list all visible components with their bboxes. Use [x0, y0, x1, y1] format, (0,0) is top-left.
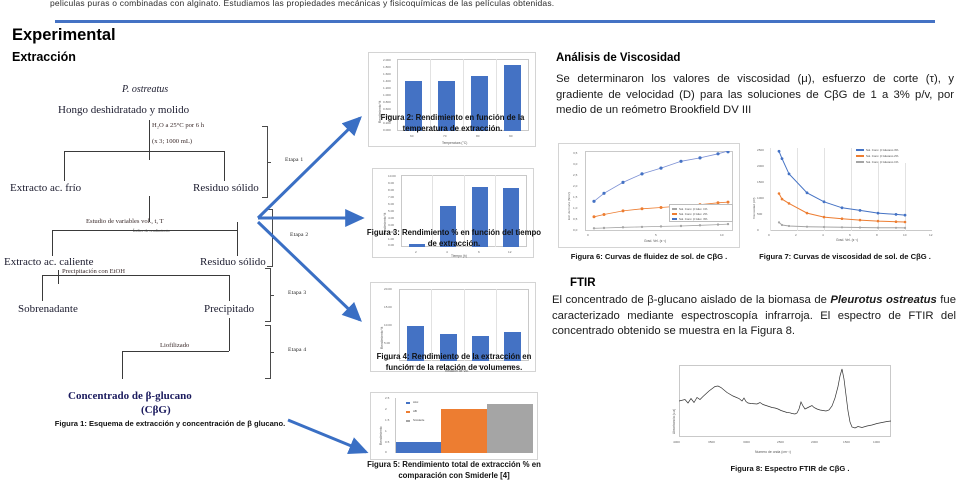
gridline [496, 289, 497, 361]
y-tick: 1.5 [385, 418, 389, 422]
y-tick: 1.200 [383, 86, 391, 90]
flow-node-extracto-frio: Extracto ac. frío [10, 182, 81, 194]
figura-8-caption: Figura 8: Espectro FTIR de CβG . [670, 464, 910, 474]
flow-line [64, 151, 65, 181]
y-tick: 2.5 [385, 396, 389, 400]
flow-node-residuo-1: Residuo sólido [193, 182, 259, 194]
y-tick: 2.000 [383, 58, 391, 62]
x-tick: 10 [720, 233, 723, 237]
y-tick: 1,0 [573, 206, 577, 210]
figura-6-chartbox: Esf. de Corte (N/m²) 3,5 3,0 2,5 2,0 1,5… [558, 143, 740, 248]
x-tick: 8 [876, 233, 878, 237]
header-divider-rule [55, 20, 935, 23]
flow-line [42, 275, 43, 301]
x-tick: 60 [410, 134, 413, 138]
y-tick: 9.00 [388, 181, 394, 185]
y-tick: 2,5 [573, 173, 577, 177]
bar-aac [396, 442, 441, 453]
legend-label-ab: AB [413, 409, 417, 413]
flow-cond4: Liofilizado [160, 342, 189, 349]
y-tick: 10.00 [384, 323, 392, 327]
x-tick: 2 [795, 233, 797, 237]
y-tick: 7.00 [388, 195, 394, 199]
flow-line [122, 351, 123, 379]
legend-label-aac: AAc [413, 400, 418, 404]
legend-swatch-smiderle [406, 420, 410, 422]
flow-cond2: Estudio de variables vol., t, T [86, 218, 164, 225]
stage-label-4: Etapa 4 [288, 347, 306, 353]
stage-label-3: Etapa 3 [288, 290, 306, 296]
legend-label-3pct: Sol. Conc. β Gluc. 3% [679, 217, 707, 221]
x-tick: 10 [903, 233, 906, 237]
flow-cond3: Precipitación con EtOH [62, 268, 125, 275]
y-tick: 0,5 [573, 217, 577, 221]
top-cut-paragraph: peliculas puras o combinadas con alginat… [50, 0, 910, 10]
figura-8-spectrum-svg [679, 365, 891, 437]
figura-5-ylabel: Rendimiento [379, 426, 383, 445]
flow-line [52, 230, 53, 256]
legend-swatch-3pct [672, 218, 677, 220]
legend-label-1pct: Sol. Conc. β Glucano 1% [866, 160, 898, 164]
figura-6-card: Esf. de Corte (N/m²) 3,5 3,0 2,5 2,0 1,5… [558, 143, 740, 248]
y-tick: 5.00 [384, 341, 390, 345]
x-tick: 0 [587, 233, 589, 237]
extraccion-heading: Extracción [12, 50, 76, 64]
flow-line [237, 222, 238, 256]
x-tick: 1500 [843, 440, 850, 444]
y-tick: 1500 [757, 180, 764, 184]
flow-line [229, 318, 230, 351]
flow-line [42, 275, 229, 276]
figura-7-ylabel: Viscosidad (cP) [752, 198, 756, 219]
flow-node-extracto-caliente: Extracto ac. caliente [4, 256, 93, 268]
figura-7-caption: Figura 7: Curvas de viscosidad de sol. d… [745, 252, 945, 262]
extraction-flowchart: P. ostreatus Hongo deshidratado y molido… [0, 78, 345, 458]
x-tick: 6 [849, 233, 851, 237]
ftir-heading: FTIR [570, 277, 596, 289]
flow-line [122, 351, 229, 352]
figura-8-xlabel: Numero de onda (cm⁻¹) [755, 450, 791, 454]
figura-5-chartbox: Rendimiento 2.5 2 1.5 1 0.5 0 AAc AB Smi… [370, 392, 538, 460]
figura-5-caption: Figura 5: Rendimiento total de extracció… [362, 460, 546, 481]
x-tick: 2 [415, 250, 417, 254]
x-tick: 12 [508, 250, 511, 254]
x-tick: 6 [478, 250, 480, 254]
flow-node-final-line1: Concentrado de β-glucano [68, 390, 192, 402]
y-tick: 4.00 [388, 216, 394, 220]
legend-swatch-ab [406, 411, 410, 413]
y-tick: 3.00 [388, 223, 394, 227]
figura-6-legend: Sol. Conc. β Gluc. 1% Sol. Conc. β Gluc.… [669, 204, 733, 222]
y-tick: 500 [757, 212, 762, 216]
figura-6-ylabel: Esf. de Corte (N/m²) [567, 192, 571, 220]
y-tick: 1.800 [383, 65, 391, 69]
figura-5-card: Rendimiento 2.5 2 1.5 1 0.5 0 AAc AB Smi… [370, 392, 538, 460]
viscosidad-paragraph: Se determinaron los valores de viscosida… [556, 72, 954, 119]
figura-8-ylabel: Absorbancia (u.a) [672, 409, 676, 434]
y-tick: 2000 [757, 164, 764, 168]
figura-2-caption: Figura 2: Rendimiento en función de la t… [365, 113, 540, 134]
flow-node-start: Hongo deshidratado y molido [58, 104, 189, 116]
y-tick: 0.5 [385, 440, 389, 444]
ftir-text-part1: El concentrado de β-glucano aislado de l… [552, 294, 830, 306]
y-tick: 10.00 [388, 174, 396, 178]
flow-node-residuo-2: Residuo sólido [200, 256, 266, 268]
stage-label-1: Etapa 1 [285, 157, 303, 163]
figura-3-xlabel: Tiempo (h) [451, 254, 467, 258]
y-tick: 0 [385, 450, 387, 454]
legend-swatch-aac [406, 402, 410, 404]
figura-7-card: Viscosidad (cP) 2500 2000 1500 1000 500 … [748, 143, 944, 248]
legend-label-3pct: Sol. Conc. β Glucano 3% [866, 148, 898, 152]
stage-bracket-2 [267, 209, 273, 267]
figura-4-ylabel: Rendimiento % [380, 327, 384, 349]
y-tick: 0.800 [383, 100, 391, 104]
y-tick: 1.000 [383, 93, 391, 97]
legend-swatch-1pct [672, 208, 677, 210]
figura-1-caption: Figura 1: Esquema de extracción y concen… [20, 419, 320, 429]
figura-2-xlabel: Temperatura (°C) [442, 141, 467, 145]
y-tick: 0.600 [383, 107, 391, 111]
legend-swatch-1pct [856, 161, 864, 163]
y-tick: 6.00 [388, 202, 394, 206]
y-tick: 1.400 [383, 79, 391, 83]
stage-bracket-3 [265, 268, 271, 322]
figura-7-xlabel: Grad. Vel. (s⁻¹) [836, 238, 858, 242]
flow-line [149, 120, 150, 160]
x-tick: 80 [476, 134, 479, 138]
legend-swatch-2pct [856, 155, 864, 157]
gridline [464, 289, 465, 361]
x-tick: 3000 [743, 440, 750, 444]
y-tick: 0,0 [573, 228, 577, 232]
y-tick: 5.00 [388, 209, 394, 213]
x-tick: 3500 [708, 440, 715, 444]
flow-node-final-line2: (CβG) [141, 404, 171, 416]
bar-smiderle [487, 404, 533, 454]
flow-cond1-line2: (x 3; 1000 mL) [152, 138, 192, 145]
x-tick: 4 [446, 250, 448, 254]
figura-8-card: Absorbancia (u.a) 4000 3500 3000 2500 20… [665, 362, 910, 462]
stage-bracket-4 [265, 325, 271, 379]
figura-7-legend: Sol. Conc. β Glucano 3% Sol. Conc. β Glu… [856, 146, 942, 163]
poster-page: peliculas puras o combinadas con alginat… [0, 0, 960, 480]
flow-node-precipitado: Precipitado [204, 303, 254, 315]
x-tick: 4000 [673, 440, 680, 444]
figura-4-caption: Figura 4: Rendimiento de la extracción e… [363, 352, 545, 373]
flow-line [58, 270, 59, 284]
flow-line [229, 275, 230, 301]
y-tick: 20.00 [384, 287, 392, 291]
legend-label-2pct: Sol. Conc. β Gluc. 2% [679, 212, 707, 216]
legend-label-smiderle: Smiderle [413, 418, 424, 422]
viscosidad-heading: Análisis de Viscosidad [556, 52, 680, 64]
x-tick: 12 [929, 233, 932, 237]
y-tick: 2500 [757, 148, 764, 152]
experimental-heading: Experimental [12, 26, 116, 45]
legend-label-2pct: Sol. Conc. β Glucano 2% [866, 154, 898, 158]
y-tick: 1 [385, 429, 387, 433]
y-tick: 0 [757, 228, 759, 232]
flow-node-sobrenadante: Sobrenadante [18, 303, 78, 315]
ftir-species-name: Pleurotus ostreatus [830, 294, 936, 306]
y-tick: 2 [385, 407, 387, 411]
y-tick: 1000 [757, 196, 764, 200]
x-tick: 70 [443, 134, 446, 138]
legend-label-1pct: Sol. Conc. β Gluc. 1% [679, 207, 707, 211]
figura-7-chartbox: Viscosidad (cP) 2500 2000 1500 1000 500 … [748, 143, 944, 248]
x-tick: 0 [768, 233, 770, 237]
y-tick: 8.00 [388, 188, 394, 192]
x-tick: 1000 [873, 440, 880, 444]
bar-ab [441, 409, 487, 453]
ftir-paragraph: El concentrado de β-glucano aislado de l… [552, 293, 956, 340]
y-tick: 3,5 [573, 151, 577, 155]
flow-line [64, 151, 224, 152]
figura-8-chartbox: Absorbancia (u.a) 4000 3500 3000 2500 20… [665, 362, 910, 462]
x-tick: 2000 [811, 440, 818, 444]
stage-label-2: Etapa 2 [290, 232, 308, 238]
flow-species-title: P. ostreatus [122, 84, 168, 95]
legend-swatch-3pct [856, 149, 864, 151]
flow-line [52, 230, 237, 231]
stage-bracket-1 [262, 126, 268, 198]
flow-cond1-line1: H₂O a 25°C por 6 h [152, 122, 204, 129]
legend-swatch-2pct [672, 213, 677, 215]
y-tick: 15.00 [384, 305, 392, 309]
x-tick: 5 [655, 233, 657, 237]
gridline [431, 289, 432, 361]
x-tick: 4 [822, 233, 824, 237]
figura-6-caption: Figura 6: Curvas de fluidez de sol. de C… [553, 252, 745, 262]
y-tick: 1.600 [383, 72, 391, 76]
figura-3-caption: Figura 3: Rendimiento % en función del t… [365, 228, 543, 249]
x-tick: 90 [509, 134, 512, 138]
x-tick: 2500 [777, 440, 784, 444]
figura-6-xlabel: Grad. Vel. (s⁻¹) [644, 239, 666, 243]
y-tick: 2,0 [573, 184, 577, 188]
y-tick: 3,0 [573, 162, 577, 166]
flow-line [224, 151, 225, 181]
y-tick: 1,5 [573, 195, 577, 199]
